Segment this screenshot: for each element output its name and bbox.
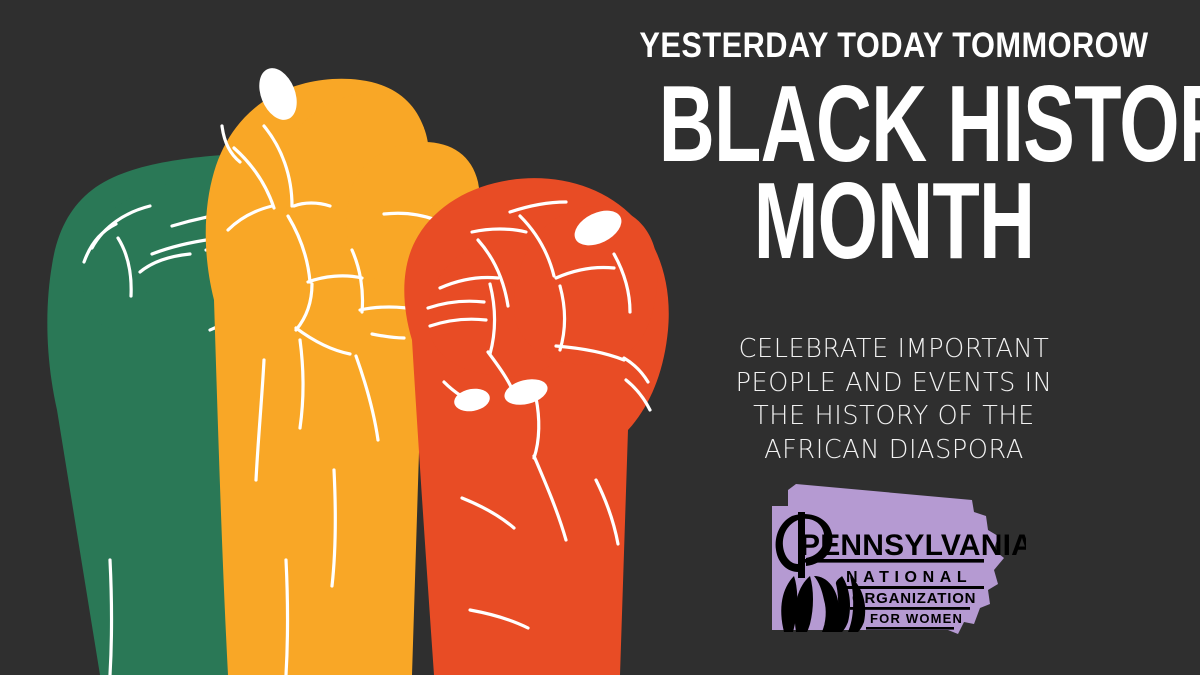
logo-line-pennsylvania: PENNSYLVANIA bbox=[800, 529, 1026, 562]
three-raised-fists-illustration bbox=[0, 0, 700, 675]
title-line-2: MONTH bbox=[659, 175, 1129, 266]
poster-text-column: YESTERDAY TODAY TOMMOROW BLACK HISTORY M… bbox=[600, 0, 1200, 675]
pennsylvania-now-logo: PENNSYLVANIA NATIONAL ORGANIZATION FOR W… bbox=[736, 472, 1026, 644]
page-title: BLACK HISTORY MONTH bbox=[600, 88, 1188, 257]
logo-line-for-women: FOR WOMEN bbox=[870, 611, 963, 626]
title-line-1: BLACK HISTORY bbox=[659, 78, 1129, 169]
body-copy: CELEBRATE IMPORTANT PEOPLE AND EVENTS IN… bbox=[614, 333, 1174, 468]
body-line-1: CELEBRATE IMPORTANT bbox=[614, 333, 1174, 367]
body-line-2: PEOPLE AND EVENTS IN bbox=[614, 367, 1174, 401]
logo-line-national: NATIONAL bbox=[846, 569, 972, 586]
black-history-month-poster: YESTERDAY TODAY TOMMOROW BLACK HISTORY M… bbox=[0, 0, 1200, 675]
body-line-4: AFRICAN DIASPORA bbox=[614, 434, 1174, 468]
tagline: YESTERDAY TODAY TOMMOROW bbox=[635, 28, 1152, 63]
body-line-3: THE HISTORY OF THE bbox=[614, 400, 1174, 434]
logo-line-organization: ORGANIZATION bbox=[852, 590, 976, 607]
